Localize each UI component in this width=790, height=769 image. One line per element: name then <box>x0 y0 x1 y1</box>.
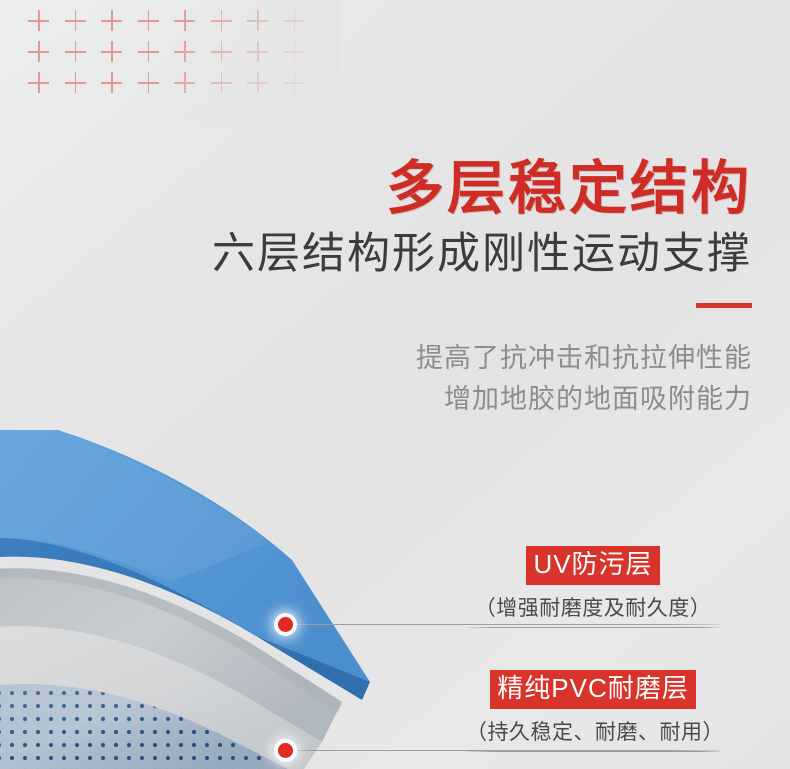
plus-icon <box>211 72 233 94</box>
marker-dot-uv <box>278 617 293 632</box>
plus-icon <box>28 10 50 32</box>
plus-icon <box>28 41 50 63</box>
plus-icon <box>65 10 87 32</box>
plus-icon <box>101 41 123 63</box>
plus-icon <box>247 41 269 63</box>
page-title: 多层稳定结构 <box>212 160 752 218</box>
uv-top-layer-edge <box>0 535 370 700</box>
plus-icon <box>284 41 306 63</box>
plus-icon <box>211 10 233 32</box>
description-line-1: 提高了抗冲击和抗拉伸性能 <box>212 338 752 379</box>
description-line-2: 增加地胶的地面吸附能力 <box>212 379 752 420</box>
plus-icon <box>28 72 50 94</box>
plus-icon <box>247 10 269 32</box>
callout-uv: UV防污层 （增强耐磨度及耐久度） <box>466 546 720 628</box>
headline-block: 多层稳定结构 六层结构形成刚性运动支撑 提高了抗冲击和抗拉伸性能 增加地胶的地面… <box>212 160 752 419</box>
plus-icon <box>65 72 87 94</box>
perforated-backing-layer <box>0 684 300 769</box>
plus-icon <box>284 72 306 94</box>
plus-icon <box>101 10 123 32</box>
plus-icon <box>65 41 87 63</box>
badge-label-pvc: 精纯PVC耐磨层 <box>490 670 695 709</box>
plus-icon <box>211 41 233 63</box>
plus-icon <box>174 10 196 32</box>
plus-icon <box>138 10 160 32</box>
plus-icon <box>174 72 196 94</box>
cross-pattern-fade <box>0 0 340 125</box>
plus-icon <box>138 72 160 94</box>
marker-dot-pvc <box>278 743 293 758</box>
plus-icon <box>284 10 306 32</box>
badge-label-uv: UV防污层 <box>526 546 659 585</box>
pvc-wear-layer <box>0 568 342 742</box>
page-subtitle: 六层结构形成刚性运动支撑 <box>212 232 752 277</box>
cross-pattern-decoration <box>28 10 320 110</box>
callout-pvc: 精纯PVC耐磨层 （持久稳定、耐磨、耐用） <box>466 670 720 752</box>
uv-top-layer <box>0 430 370 682</box>
plus-icon <box>247 72 269 94</box>
callout-note-pvc: （持久稳定、耐磨、耐用） <box>466 716 720 746</box>
callout-underline-pvc <box>466 751 720 752</box>
product-banner: 多层稳定结构 六层结构形成刚性运动支撑 提高了抗冲击和抗拉伸性能 增加地胶的地面… <box>0 0 790 769</box>
plus-icon <box>174 41 196 63</box>
plus-icon <box>101 72 123 94</box>
red-divider <box>696 303 752 308</box>
callout-note-uv: （增强耐磨度及耐久度） <box>466 592 720 622</box>
callout-underline-uv <box>466 627 720 628</box>
pvc-wear-layer-light <box>0 626 322 769</box>
plus-icon <box>138 41 160 63</box>
layered-flooring-illustration <box>0 430 440 769</box>
